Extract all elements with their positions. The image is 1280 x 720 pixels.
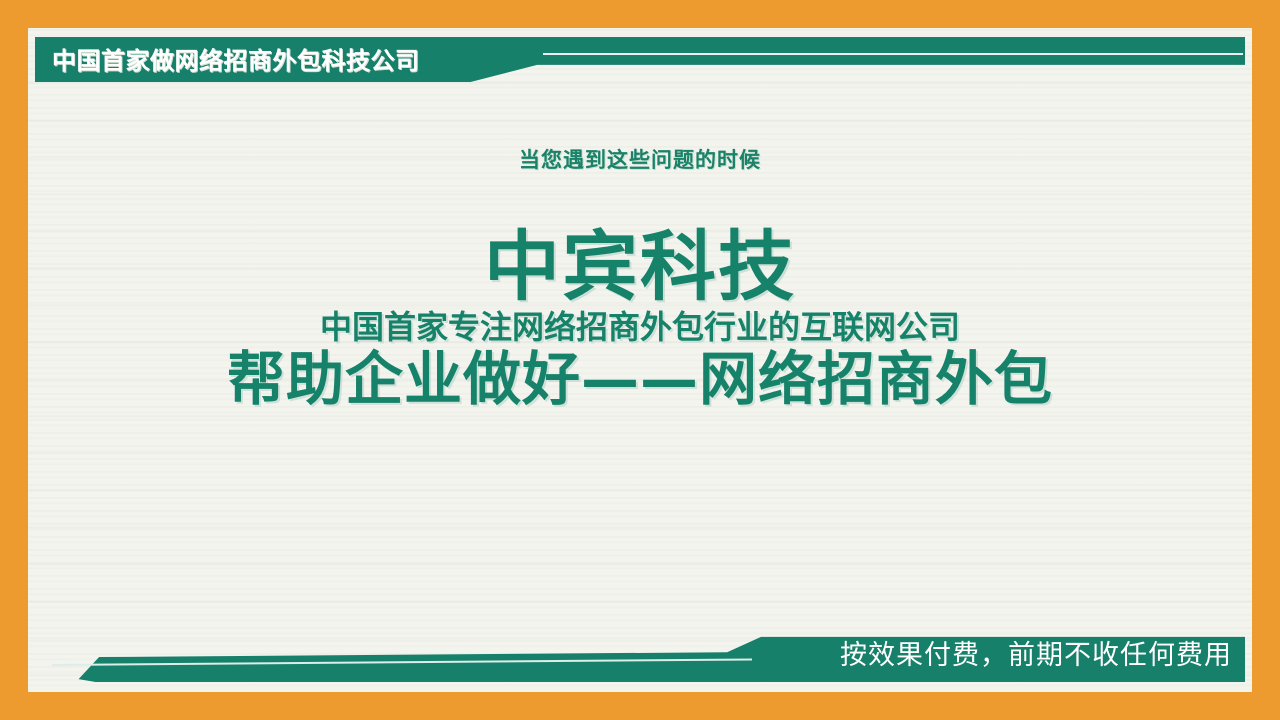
tagline-text: 中国首家专注网络招商外包行业的互联网公司 <box>28 311 1252 345</box>
brand-title: 中宾科技 <box>28 229 1252 305</box>
slide-content-stack: 当您遇到这些问题的时候 中宾科技 中国首家专注网络招商外包行业的互联网公司 帮助… <box>28 150 1252 409</box>
eyebrow-text: 当您遇到这些问题的时候 <box>28 150 1252 171</box>
presentation-slide: 中国首家做网络招商外包科技公司 当您遇到这些问题的时候 中宾科技 中国首家专注网… <box>0 0 1280 720</box>
headline-text: 帮助企业做好——网络招商外包 <box>28 349 1252 410</box>
top-banner-label: 中国首家做网络招商外包科技公司 <box>52 41 420 76</box>
bottom-banner-label: 按效果付费，前期不收任何费用 <box>840 633 1232 672</box>
top-banner-divider-line <box>543 53 1243 55</box>
